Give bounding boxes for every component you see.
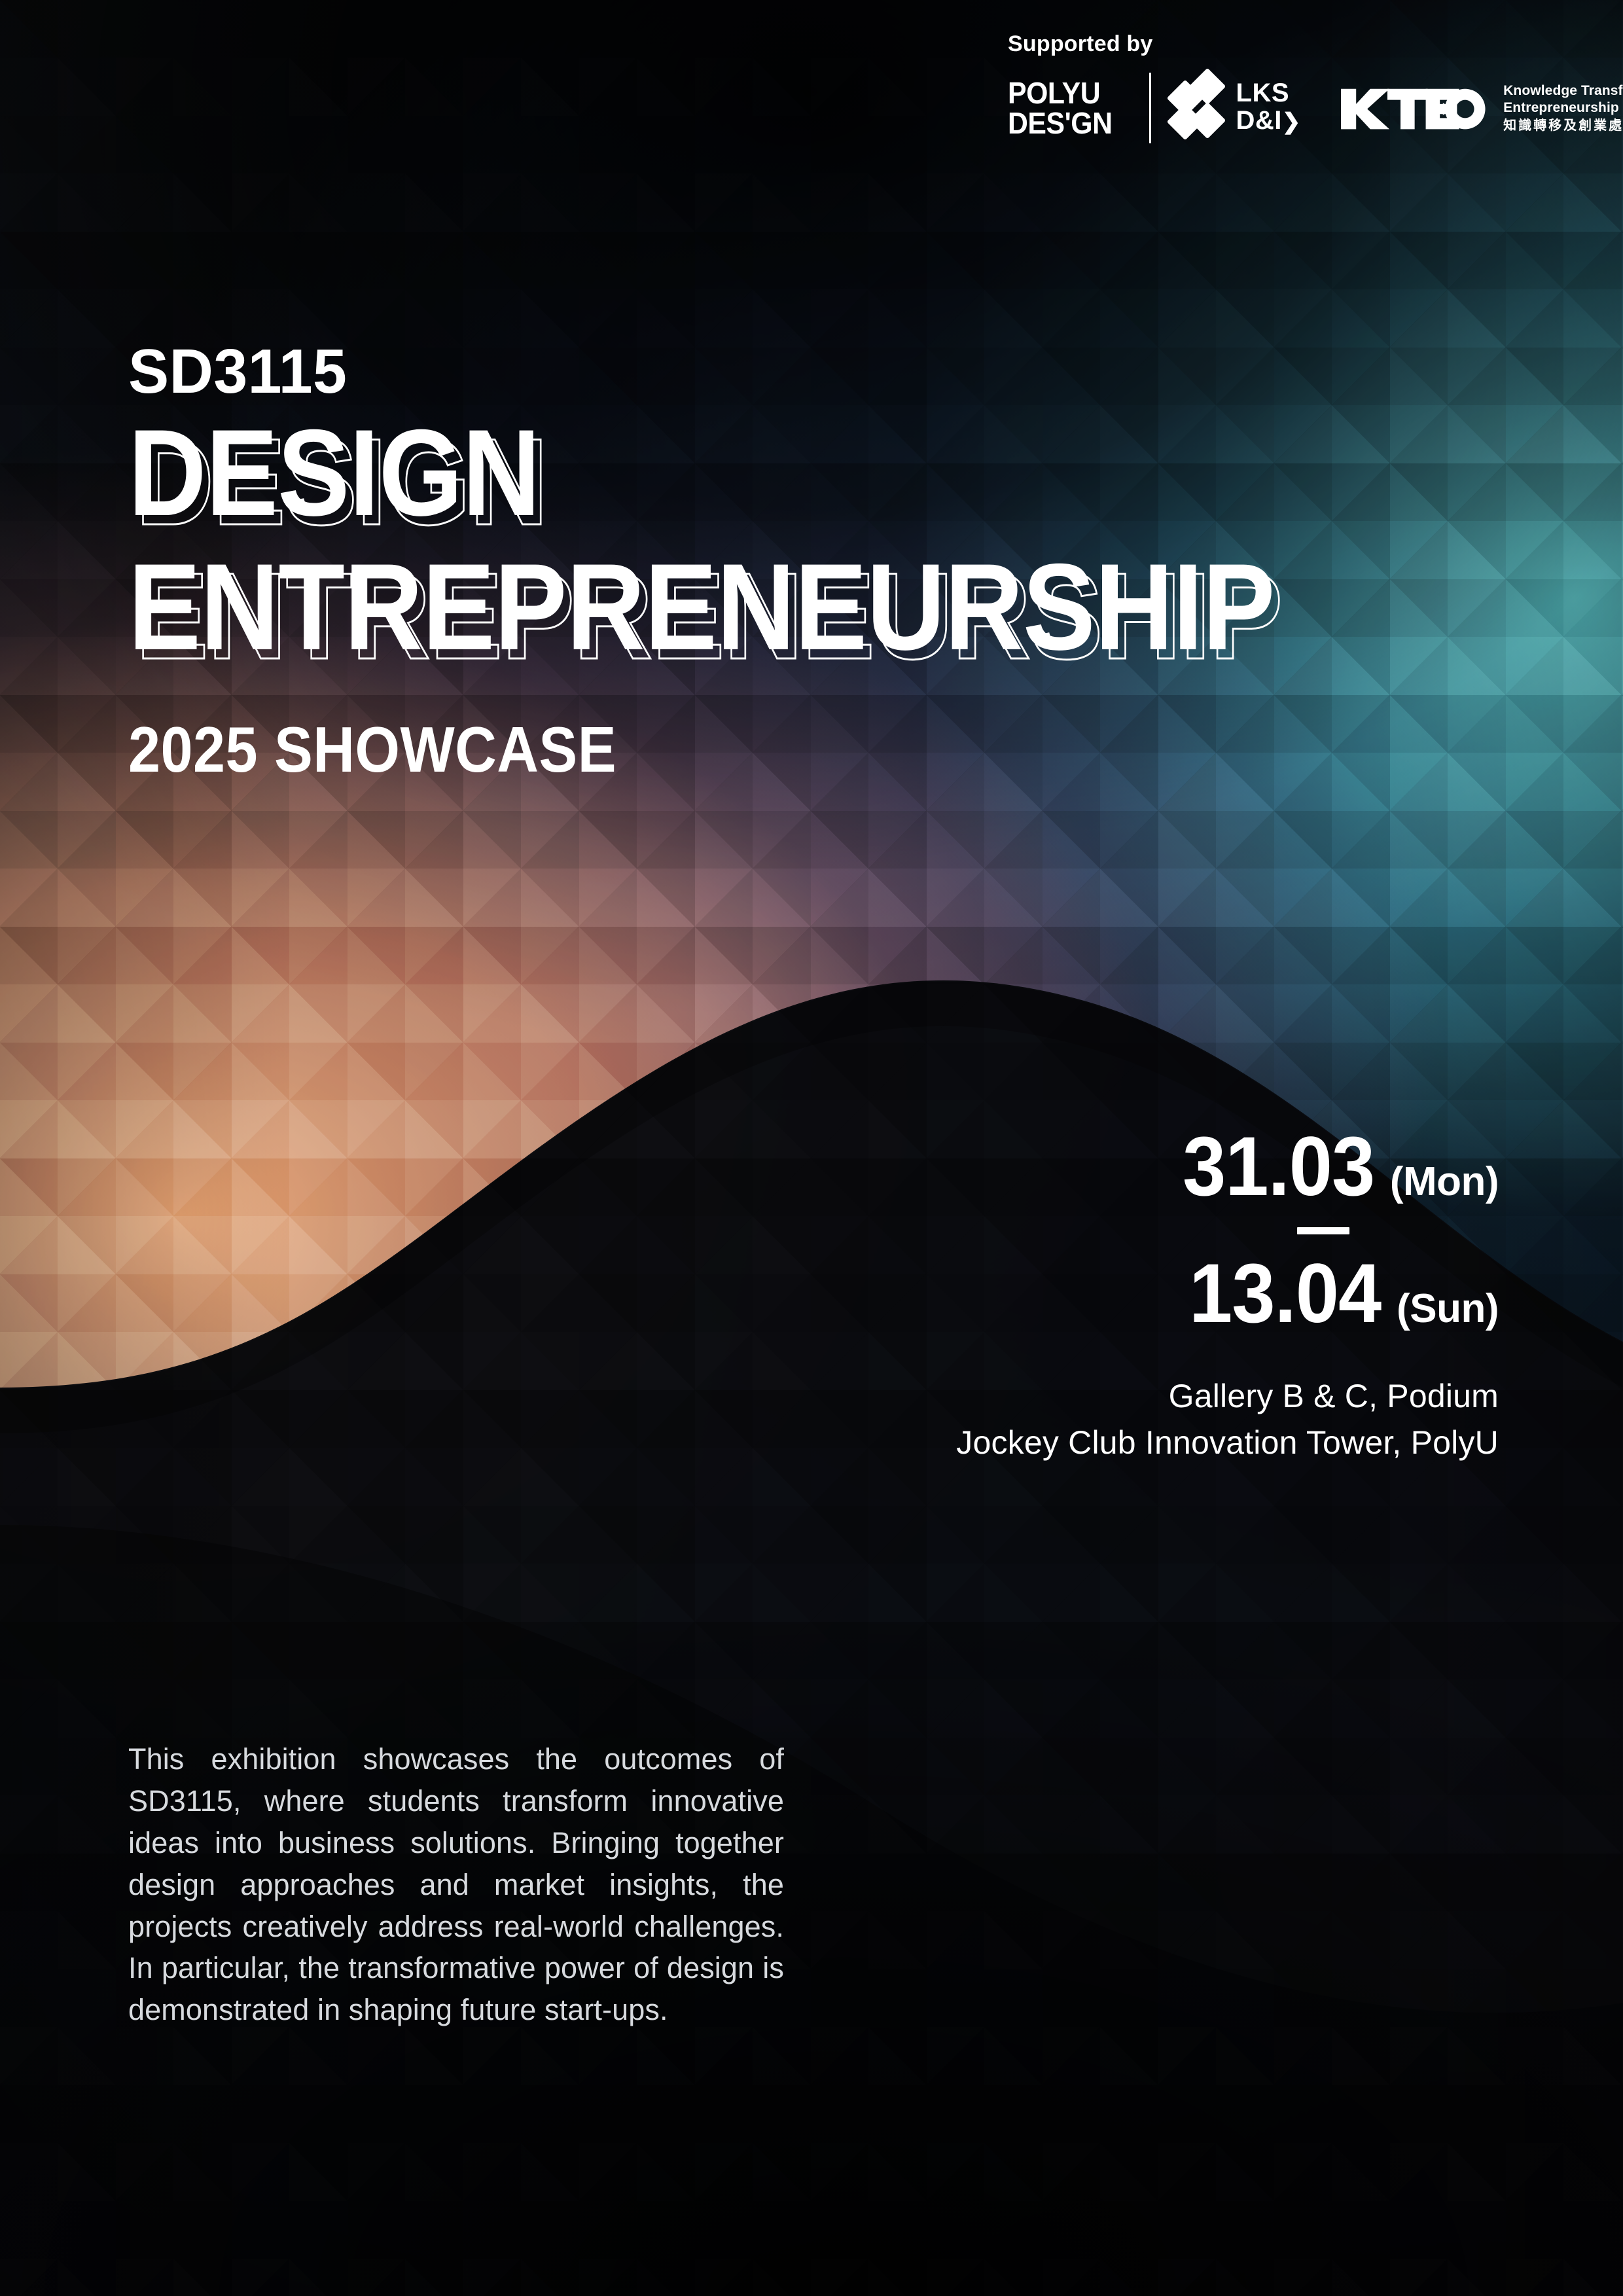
lks-line2: D&I	[1236, 106, 1282, 135]
kteo-zh-line: 知識轉移及創業處	[1503, 118, 1623, 134]
kteo-en-line1: Knowledge Transfer and	[1503, 82, 1623, 99]
description-paragraph: This exhibition showcases the outcomes o…	[128, 1738, 784, 2031]
logo-divider	[1149, 73, 1151, 143]
polyu-logo-line2: DES'GN	[1008, 108, 1113, 138]
end-date-row: 13.04 (Sun)	[779, 1251, 1499, 1337]
event-date-block: 31.03 (Mon) 13.04 (Sun) Gallery B & C, P…	[779, 1124, 1499, 1466]
supporters-block: Supported by POLYU DES'GN LKS D&I❯	[1008, 31, 1597, 143]
lks-line1: LKS	[1236, 79, 1301, 107]
venue-line-2: Jockey Club Innovation Tower, PolyU	[779, 1420, 1499, 1466]
course-code: SD3115	[128, 340, 1385, 403]
kteo-subtitle: Knowledge Transfer and Entrepreneurship …	[1503, 82, 1623, 133]
end-date-day: (Sun)	[1397, 1285, 1499, 1332]
venue-line-1: Gallery B & C, Podium	[779, 1373, 1499, 1420]
start-date-row: 31.03 (Mon)	[779, 1124, 1499, 1210]
supporter-logo-row: POLYU DES'GN LKS D&I❯	[1008, 73, 1597, 143]
kteo-logo: Knowledge Transfer and Entrepreneurship …	[1339, 82, 1623, 133]
kteo-wordmark-icon	[1339, 84, 1490, 132]
title-line-entrepreneurship: ENTREPRENEURSHIP ENTREPRENEURSHIP	[128, 553, 1275, 661]
kteo-en-line2: Entrepreneurship Office	[1503, 99, 1623, 116]
polyu-logo-line1: POLYU	[1008, 78, 1113, 108]
lks-diamond-mark-icon	[1171, 80, 1227, 136]
venue-block: Gallery B & C, Podium Jockey Club Innova…	[779, 1373, 1499, 1466]
title-line-entrepreneurship-text: ENTREPRENEURSHIP	[128, 553, 1275, 661]
polyu-design-logo: POLYU DES'GN	[1008, 78, 1113, 138]
end-date: 13.04	[1189, 1251, 1381, 1337]
lks-di-wordmark: LKS D&I❯	[1236, 79, 1301, 137]
start-date: 31.03	[1183, 1124, 1374, 1210]
headline-block: SD3115 DESIGN DESIGN ENTREPRENEURSHIP EN…	[128, 340, 1423, 787]
date-range-dash	[1297, 1227, 1349, 1234]
lks-di-logo: LKS D&I❯	[1171, 79, 1301, 137]
subtitle-showcase: 2025 SHOWCASE	[128, 713, 1294, 787]
chevron-right-icon: ❯	[1282, 109, 1301, 134]
poster-canvas: Supported by POLYU DES'GN LKS D&I❯	[0, 0, 1623, 2296]
title-line-design-text: DESIGN	[128, 419, 540, 527]
title-line-design: DESIGN DESIGN	[128, 419, 1268, 527]
start-date-day: (Mon)	[1390, 1158, 1499, 1205]
supported-by-label: Supported by	[1008, 31, 1597, 57]
